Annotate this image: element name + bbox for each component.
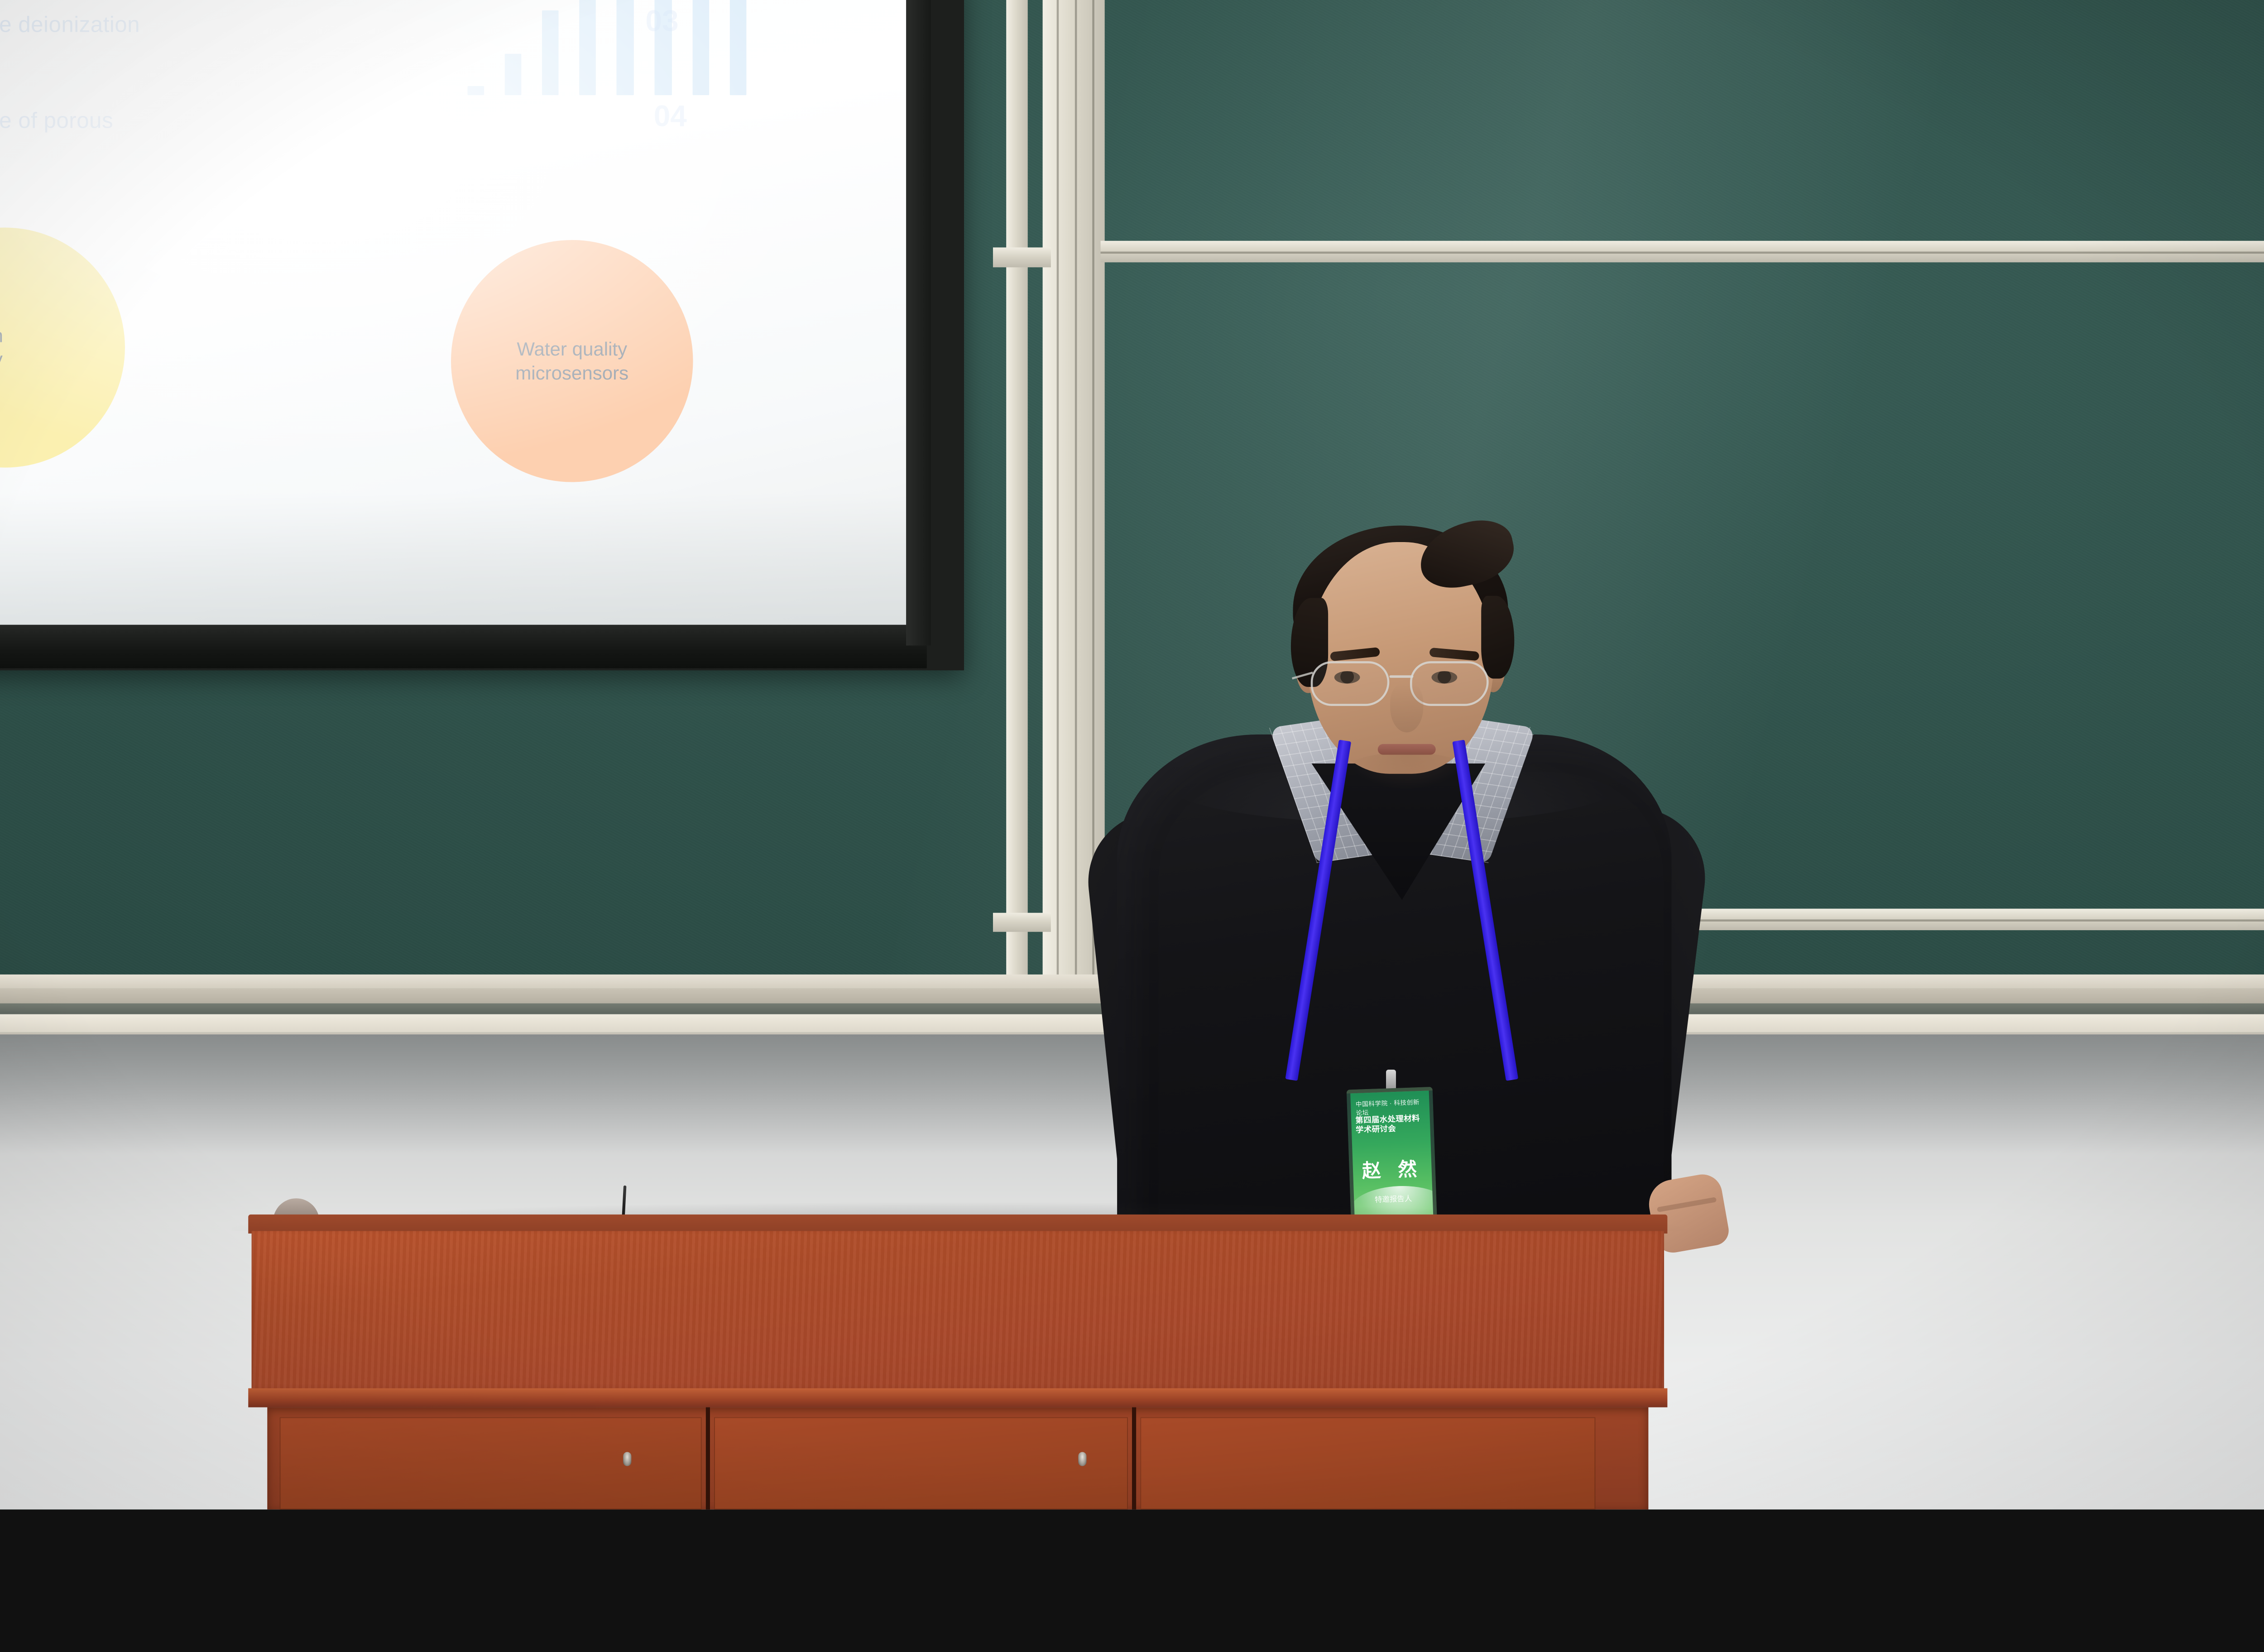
board-divider-left (1006, 0, 1028, 976)
board-rail-lower-left (993, 913, 1051, 932)
screen-right-border (906, 0, 931, 645)
eyeglass-bridge (1389, 675, 1413, 677)
podium-door-right (1140, 1417, 1595, 1510)
slide-number-2: 04 (654, 99, 687, 133)
podium-base (267, 1407, 1648, 1510)
chart-bar (542, 10, 559, 95)
yellow-circle-line-1: an (0, 325, 3, 346)
yellow-circle-label: an gy (0, 324, 3, 371)
slide-text-line-2: e of porous (0, 108, 113, 134)
lecture-hall-photo: e deionization 03 e of porous 04 an gy W… (0, 0, 2264, 1509)
podium (248, 1215, 1667, 1509)
screen-bottom-border (0, 625, 927, 668)
slide-text-line-1: e deionization (0, 12, 140, 38)
chart-bar (579, 0, 596, 95)
eyeglass-lens-left (1311, 661, 1390, 706)
chart-bar (730, 0, 747, 95)
chart-bar (616, 0, 633, 95)
speaker: 中国科学院 · 科技创新论坛 第四届水处理材料学术研讨会 赵 然 特邀报告人 (1059, 525, 1738, 1237)
slide-orange-circle: Water quality microsensors (451, 240, 693, 482)
slide-number-1: 03 (645, 4, 678, 38)
podium-keyhole (1078, 1452, 1086, 1466)
podium-keyhole (623, 1452, 631, 1466)
orange-circle-label: Water quality microsensors (515, 337, 628, 385)
chart-bar (468, 86, 484, 95)
yellow-circle-line-2: gy (0, 348, 3, 370)
board-rail-groove (1101, 252, 2264, 254)
orange-circle-line-2: microsensors (515, 362, 628, 384)
podium-front-panel (252, 1231, 1664, 1394)
projection-screen: e deionization 03 e of porous 04 an gy W… (0, 0, 927, 625)
podium-door-middle (714, 1417, 1128, 1510)
podium-door-gap (706, 1407, 710, 1510)
podium-door-left (280, 1417, 702, 1510)
chin-shadow (1345, 752, 1469, 789)
nose (1390, 683, 1423, 733)
badge-title: 第四届水处理材料学术研讨会 (1355, 1114, 1426, 1135)
podium-door-gap (1132, 1407, 1136, 1510)
podium-lip (248, 1388, 1667, 1407)
screen-falloff (0, 492, 927, 624)
slide-bar-chart (439, 0, 778, 95)
orange-circle-line-1: Water quality (517, 338, 627, 360)
slide-yellow-circle: an gy (0, 228, 125, 468)
board-divider-groove (1057, 0, 1059, 976)
chart-bar (505, 54, 522, 95)
badge-name: 赵 然 (1353, 1153, 1432, 1183)
chart-bar (693, 0, 710, 95)
board-rail-upper-left (993, 247, 1051, 267)
